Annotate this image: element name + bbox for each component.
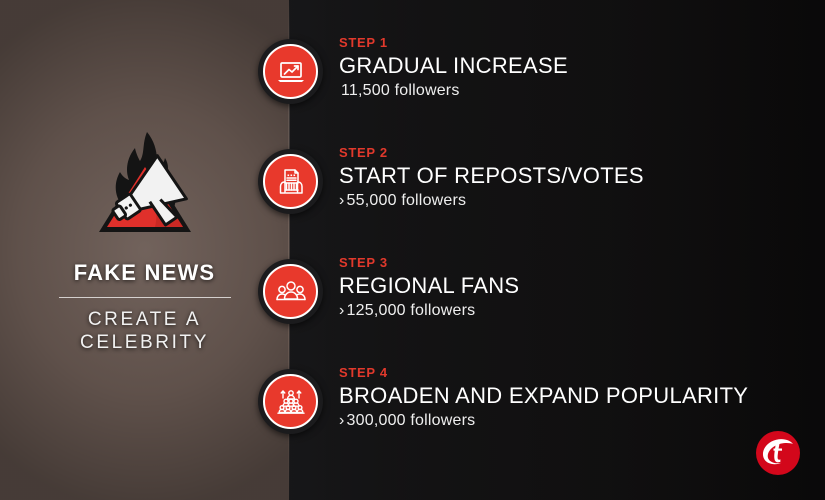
step-badge-inner [263, 44, 318, 99]
step-row[interactable]: STEP 1 GRADUAL INCREASE 11,500 followers [0, 39, 825, 125]
step-badge-inner [263, 264, 318, 319]
infographic-canvas: FAKE NEWS CREATE ACELEBRITY STEP 1 GRADU… [0, 0, 825, 500]
step-chevron: › [339, 302, 345, 319]
step-metric-line: 11,500 followers [339, 82, 568, 100]
step-row[interactable]: STEP 2 START OF REPOSTS/VOTES ›55,000 fo… [0, 149, 825, 235]
laptop-growth-chart-icon [275, 56, 307, 88]
step-metric: 11,500 followers [341, 82, 460, 99]
step-metric-line: ›300,000 followers [339, 412, 748, 430]
hands-sharing-document-icon [275, 166, 307, 198]
step-badge-inner [263, 154, 318, 209]
step-badge[interactable] [258, 39, 323, 104]
step-chevron: › [339, 412, 345, 429]
step-metric: 125,000 followers [347, 302, 476, 319]
step-row[interactable]: STEP 3 REGIONAL FANS ›125,000 followers [0, 259, 825, 345]
steps-list: STEP 1 GRADUAL INCREASE 11,500 followers [0, 0, 825, 500]
step-text: STEP 2 START OF REPOSTS/VOTES ›55,000 fo… [339, 146, 644, 210]
step-badge[interactable] [258, 369, 323, 434]
step-kicker: STEP 3 [339, 256, 519, 269]
step-chevron: › [339, 192, 345, 209]
group-of-people-icon [275, 276, 307, 308]
step-badge[interactable] [258, 259, 323, 324]
step-metric-line: ›125,000 followers [339, 302, 519, 320]
step-row[interactable]: STEP 4 BROADEN AND EXPAND POPULARITY ›30… [0, 369, 825, 455]
step-metric: 55,000 followers [347, 192, 467, 209]
step-kicker: STEP 2 [339, 146, 644, 159]
step-metric: 300,000 followers [347, 412, 476, 429]
trend-micro-logo-icon[interactable] [753, 428, 803, 478]
step-text: STEP 3 REGIONAL FANS ›125,000 followers [339, 256, 519, 320]
step-metric-line: ›55,000 followers [339, 192, 644, 210]
step-title: GRADUAL INCREASE [339, 54, 568, 77]
step-text: STEP 1 GRADUAL INCREASE 11,500 followers [339, 36, 568, 100]
step-title: REGIONAL FANS [339, 274, 519, 297]
step-badge[interactable] [258, 149, 323, 214]
step-text: STEP 4 BROADEN AND EXPAND POPULARITY ›30… [339, 366, 748, 430]
step-title: BROADEN AND EXPAND POPULARITY [339, 384, 748, 407]
step-kicker: STEP 1 [339, 36, 568, 49]
step-badge-inner [263, 374, 318, 429]
step-title: START OF REPOSTS/VOTES [339, 164, 644, 187]
step-kicker: STEP 4 [339, 366, 748, 379]
crowd-growth-arrows-icon [275, 386, 307, 418]
